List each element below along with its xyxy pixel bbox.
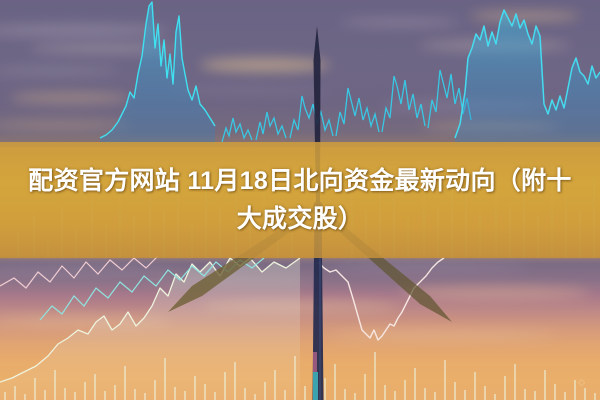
title-line-1: 配资官方网站 11月18日北向资金最新动向（附十 bbox=[28, 163, 571, 199]
watermark: ◇ bbox=[578, 377, 586, 388]
title-line-2: 大成交股） bbox=[237, 201, 364, 237]
turbine-base-accent-pink bbox=[313, 352, 317, 372]
banner-title: 配资官方网站 11月18日北向资金最新动向（附十 大成交股） bbox=[0, 142, 600, 258]
article-banner: 配资官方网站 11月18日北向资金最新动向（附十 大成交股） ◇ bbox=[0, 0, 600, 400]
turbine-base-accent-cyan bbox=[313, 372, 318, 400]
